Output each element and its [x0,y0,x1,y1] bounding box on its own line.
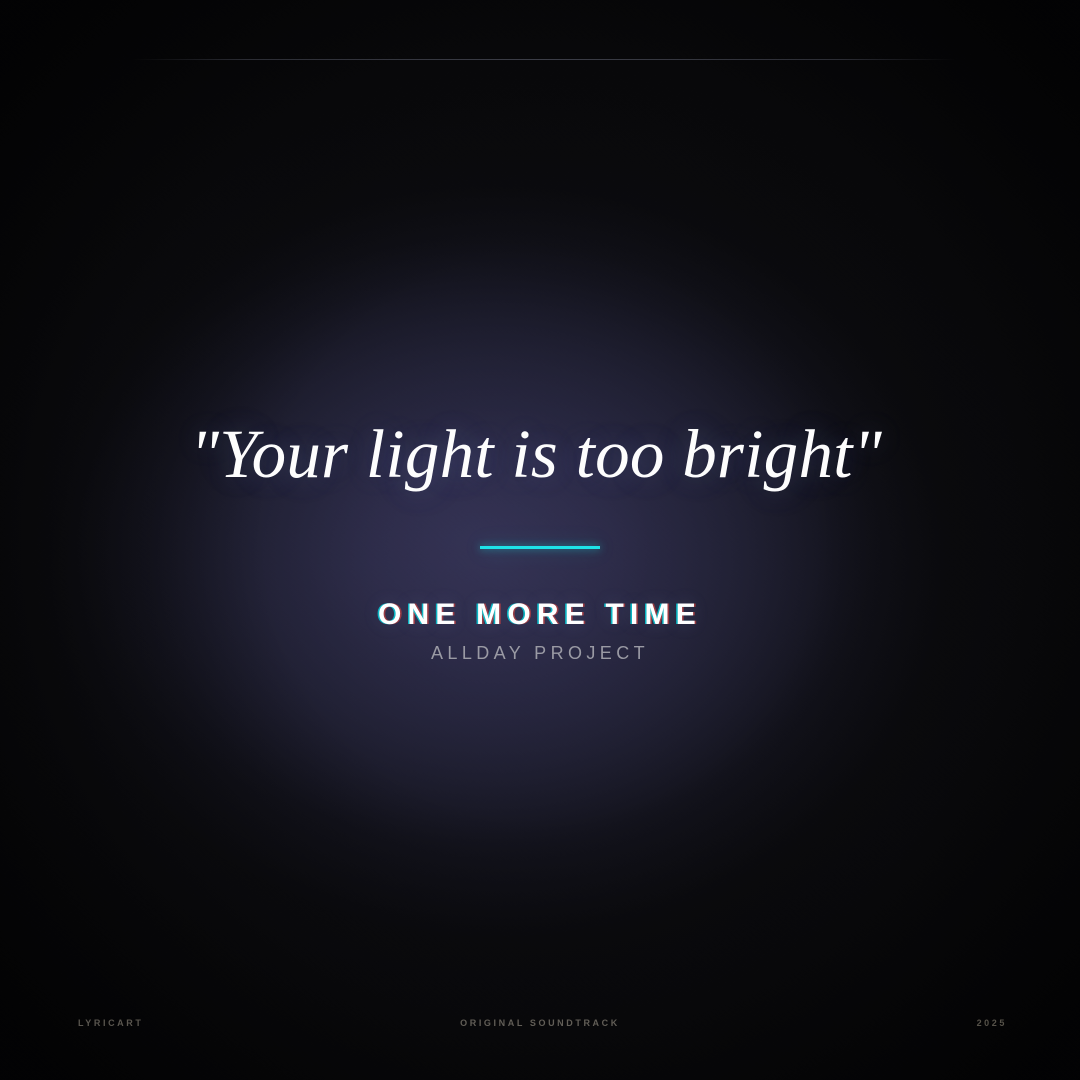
footer-category: ORIGINAL SOUNDTRACK [0,1018,1080,1028]
song-title: ONE MORE TIME [0,598,1080,632]
accent-divider [480,546,600,549]
footer-year: 2025 [977,1018,1007,1028]
content-stage: "Your light is too bright" ONE MORE TIME… [0,0,1080,1080]
artist-name: ALLDAY PROJECT [0,643,1080,664]
lyric-poster: "Your light is too bright" ONE MORE TIME… [0,0,1080,1080]
lyric-quote: "Your light is too bright" [0,414,1076,494]
